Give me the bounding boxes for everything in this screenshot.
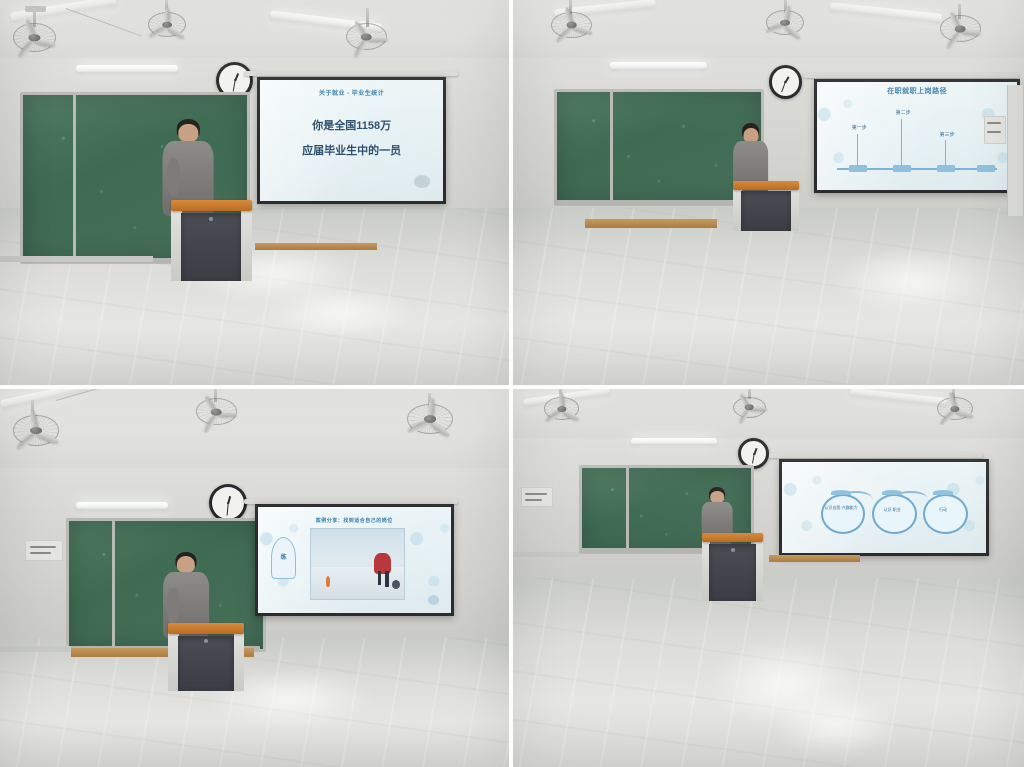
slide-corner-decoration [817, 82, 853, 190]
rocket-graphic: 练 [271, 537, 296, 579]
clock-pin [227, 502, 229, 504]
podium-knob [204, 639, 208, 643]
screen-rail [769, 453, 984, 458]
slide-circle-2-label: 认识 职业 [872, 507, 913, 512]
timeline-step-1: 第一步 [835, 125, 883, 132]
wall-clock [209, 484, 248, 523]
slide-decoration [428, 595, 440, 605]
projector-screen: 关于就业 - 毕业生统计 你是全国1158万 应届毕业生中的一员 [257, 77, 446, 204]
slide-corner-decoration [782, 462, 823, 553]
slide-photo [310, 528, 405, 600]
podium-side [234, 628, 245, 691]
slide-header: 在职就职上岗路径 [817, 86, 1016, 96]
panel-top-left: 关于就业 - 毕业生统计 你是全国1158万 应届毕业生中的一员 [0, 0, 509, 385]
fan-hub [955, 25, 966, 32]
wall-sign-line-1 [987, 122, 1001, 124]
fan-hub [745, 404, 754, 410]
wall-sign [984, 116, 1006, 145]
ceiling-fan [551, 12, 592, 39]
blackboard-divider [626, 468, 629, 551]
fan-hub [950, 406, 959, 412]
slide-circle-1-label: 认识自我 兴趣能力 [821, 505, 862, 510]
floor-reflection [830, 246, 994, 315]
podium [171, 200, 252, 281]
fluorescent-tube-light [76, 65, 178, 72]
timeline-marker [977, 165, 995, 172]
timeline-step-3: 第三步 [923, 132, 971, 139]
podium-front-panel [709, 544, 756, 600]
classroom-scene: 关于就业 - 毕业生统计 你是全国1158万 应届毕业生中的一员 [0, 0, 509, 385]
slide-header: 关于就业 - 毕业生统计 [260, 88, 443, 97]
photo-ball [392, 580, 400, 589]
blackboard-divider [610, 92, 613, 204]
ceiling-fan [937, 397, 973, 420]
fluorescent-tube-light [76, 502, 168, 509]
slide-circle-2 [872, 494, 917, 534]
podium-front-panel [741, 191, 790, 231]
fan-hub [162, 22, 172, 29]
slide-circle-cap [831, 490, 851, 495]
timeline-step-2: 第二步 [879, 110, 927, 117]
photo-person-leg [385, 571, 389, 586]
fan-hub [30, 427, 42, 435]
ceiling-fan [196, 398, 237, 424]
projector-screen: 职业生涯规划 案例分享：找到适合自己的岗位 练 [255, 504, 454, 616]
blackboard-divider [112, 521, 115, 650]
podium-knob [209, 217, 213, 221]
ceiling-fan [13, 415, 59, 445]
clock-pin [753, 453, 755, 455]
wall-sign-line-1 [525, 493, 547, 495]
wall-wood-strip [769, 555, 861, 562]
slide-line-2: 应届毕业生中的一员 [260, 144, 443, 160]
slide-circle-cap [882, 490, 902, 495]
slide-circle-1 [821, 494, 866, 534]
ceiling-fan [346, 23, 387, 50]
clock-pin [234, 79, 236, 81]
podium-worktop [702, 533, 763, 543]
podium-worktop [168, 623, 244, 633]
podium [168, 623, 244, 691]
podium-side [241, 205, 252, 281]
podium-front-panel [181, 213, 241, 281]
fluorescent-tube-light [610, 62, 707, 69]
rocket-label: 练 [272, 552, 295, 561]
chalk-tray [554, 200, 758, 205]
wall-sign [521, 487, 554, 506]
timeline-stem [901, 119, 902, 166]
screen-rail [244, 499, 458, 504]
ceiling-fan [148, 12, 186, 37]
panel-bottom-left: 职业生涯规划 案例分享：找到适合自己的岗位 练 [0, 389, 509, 767]
ceiling-fan [766, 10, 804, 35]
door-frame [1007, 85, 1024, 216]
podium [702, 533, 763, 601]
slide-header: 案例分享：找到适合自己的岗位 [258, 517, 451, 524]
podium-worktop [171, 200, 252, 211]
podium [733, 181, 799, 231]
slide-circle-cap [933, 490, 953, 495]
wall-sign [25, 540, 63, 561]
floor-reflection [265, 285, 418, 339]
ceiling-fan [544, 397, 580, 420]
podium-side [790, 185, 799, 231]
fan-hub [361, 33, 372, 40]
panel-top-right: 在职就职上岗路径 第一步 第二步 第三步 [513, 0, 1024, 385]
ceiling-fan [407, 404, 453, 434]
wall-sign-line-2 [987, 131, 1001, 133]
screen-rail [244, 71, 458, 76]
wall-sign-line-1 [30, 546, 56, 548]
fan-hub [780, 19, 790, 26]
clock-pin [784, 81, 786, 83]
photo-person-leg [378, 571, 382, 585]
fan-hub [557, 406, 566, 412]
presenter-arm [167, 588, 179, 623]
wall-sign-line-2 [30, 552, 51, 554]
panel-bottom-right: 认识自我 兴趣能力 认识 职业 行动 [513, 389, 1024, 767]
blackboard-divider [73, 95, 76, 261]
ceiling-fan [13, 23, 56, 52]
wall-sign-line-2 [525, 499, 542, 501]
baseboard [513, 552, 579, 557]
wall-wood-strip [255, 243, 377, 251]
slide-line-1: 你是全国1158万 [260, 119, 443, 135]
timeline-stem [857, 134, 858, 166]
classroom-scene: 认识自我 兴趣能力 认识 职业 行动 [513, 389, 1024, 767]
fan-hub [211, 408, 222, 415]
ceiling-fan [940, 15, 981, 42]
slide-circle-3 [923, 494, 968, 534]
podium-worktop [733, 181, 799, 190]
floor-reflection [769, 691, 902, 759]
wall-wood-strip [585, 219, 718, 227]
podium-side [755, 538, 763, 601]
fan-hub [566, 22, 577, 29]
baseboard [0, 646, 71, 652]
fluorescent-tube-light [631, 438, 718, 444]
photo-pin [326, 576, 331, 587]
presenter-arm [167, 158, 180, 197]
podium-front-panel [178, 636, 235, 692]
podium-knob [731, 548, 735, 552]
classroom-scene: 在职就职上岗路径 第一步 第二步 第三步 [513, 0, 1024, 385]
fan-hub [29, 34, 40, 42]
screen-rail [804, 73, 1019, 78]
photo-collage: 关于就业 - 毕业生统计 你是全国1158万 应届毕业生中的一员 [0, 0, 1024, 767]
classroom-scene: 职业生涯规划 案例分享：找到适合自己的岗位 练 [0, 389, 509, 767]
baseboard [0, 256, 153, 262]
projector-screen: 认识自我 兴趣能力 认识 职业 行动 [779, 459, 989, 556]
timeline-stem [945, 140, 946, 166]
ceiling-fan [733, 397, 766, 418]
wall-clock [769, 65, 803, 99]
fan-hub [424, 415, 436, 423]
slide-circle-3-label: 行动 [923, 507, 964, 512]
